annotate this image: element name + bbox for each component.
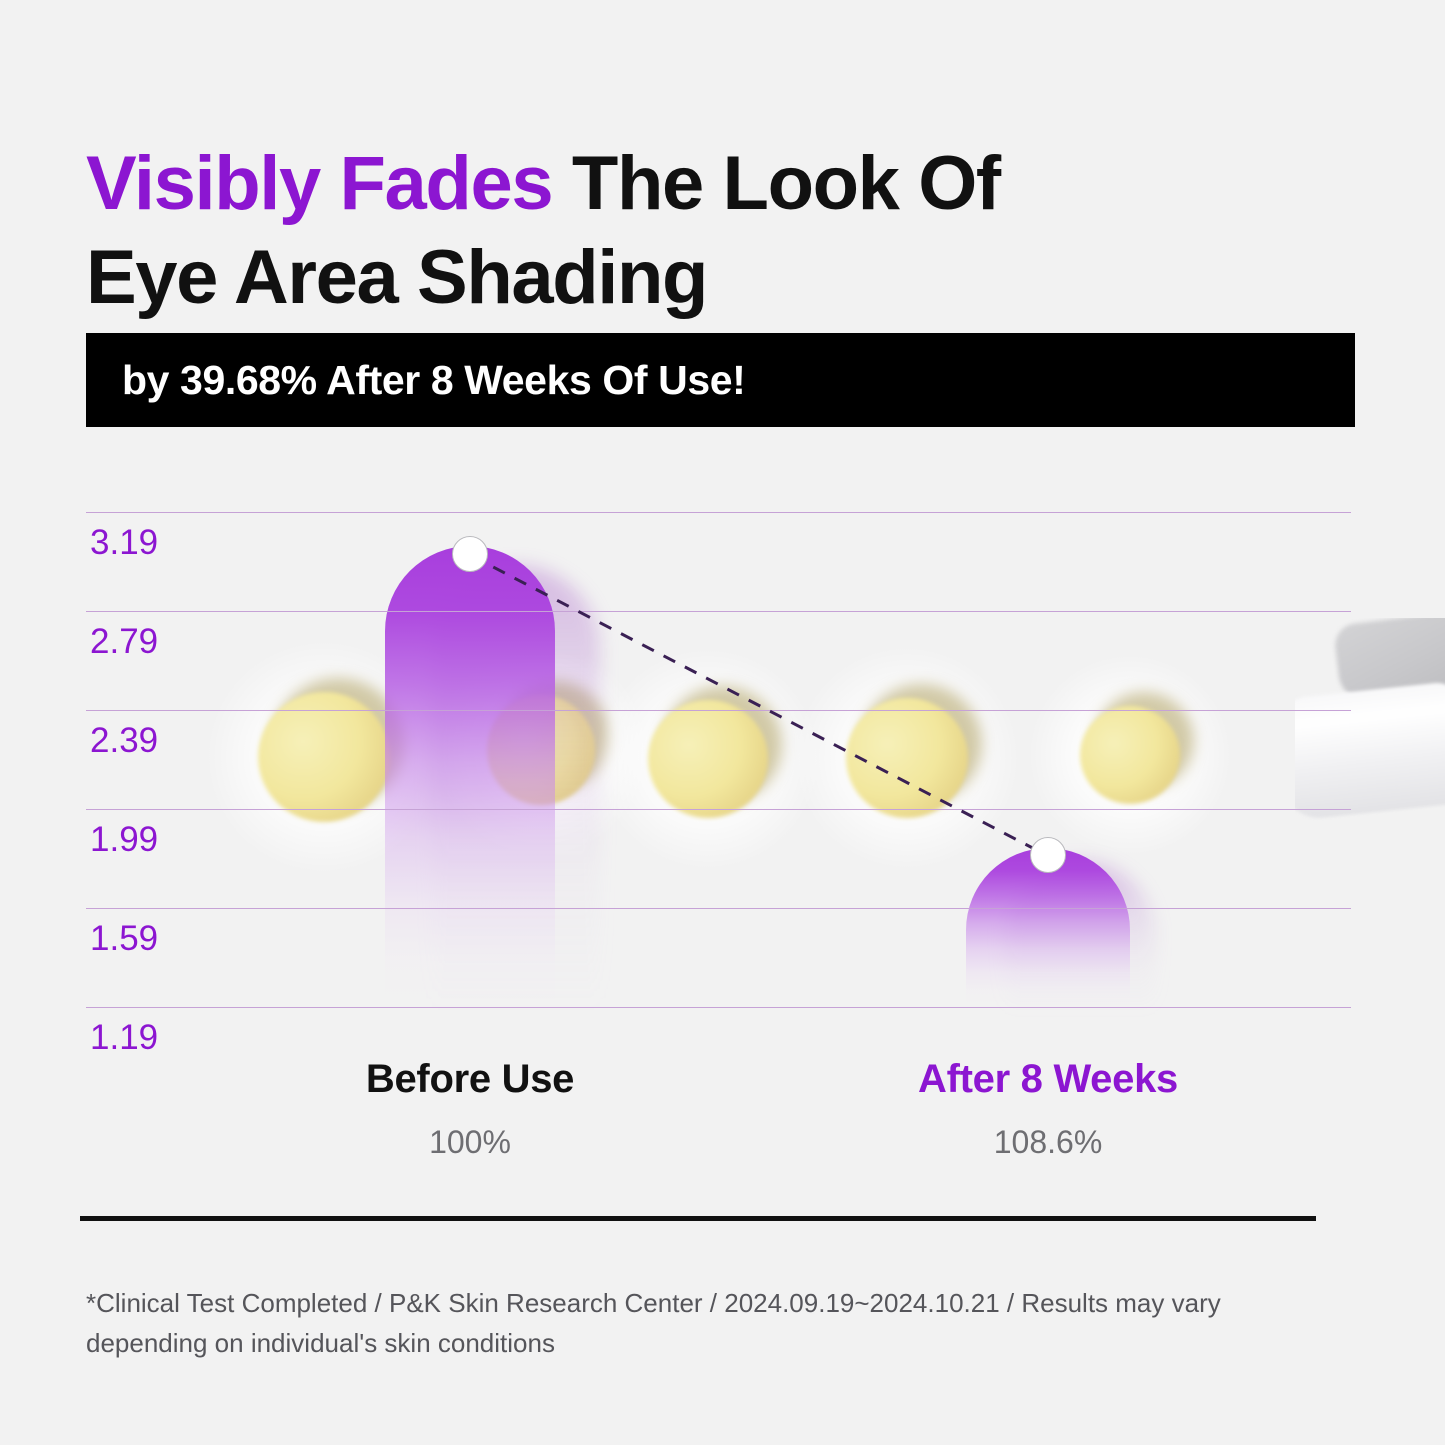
banner-text: by 39.68% After 8 Weeks Of Use! (86, 357, 745, 404)
capsule-blob-3 (648, 700, 768, 818)
capsule-blob-5 (1080, 706, 1180, 804)
capsule-body (846, 698, 968, 818)
capsule-blob-1 (258, 692, 390, 822)
capsule-body (258, 692, 390, 822)
capsule-body (1080, 706, 1180, 804)
page-title: Visibly Fades The Look Of Eye Area Shadi… (86, 137, 1246, 325)
tube-body (1295, 680, 1445, 821)
headline-accent: Visibly Fades (86, 141, 552, 226)
headline-rest: The Look Of (552, 141, 1000, 226)
capsule-blob-2 (487, 695, 595, 805)
infographic-page: Visibly Fades The Look Of Eye Area Shadi… (0, 0, 1445, 1445)
headline-line2: Eye Area Shading (86, 231, 1246, 325)
footnote-text: *Clinical Test Completed / P&K Skin Rese… (86, 1283, 1316, 1363)
bottom-divider (80, 1216, 1316, 1221)
capsule-body (487, 695, 595, 805)
capsule-body (648, 700, 768, 818)
product-tube (1295, 618, 1445, 828)
capsule-blob-4 (846, 698, 968, 818)
highlight-banner: by 39.68% After 8 Weeks Of Use! (86, 333, 1355, 427)
